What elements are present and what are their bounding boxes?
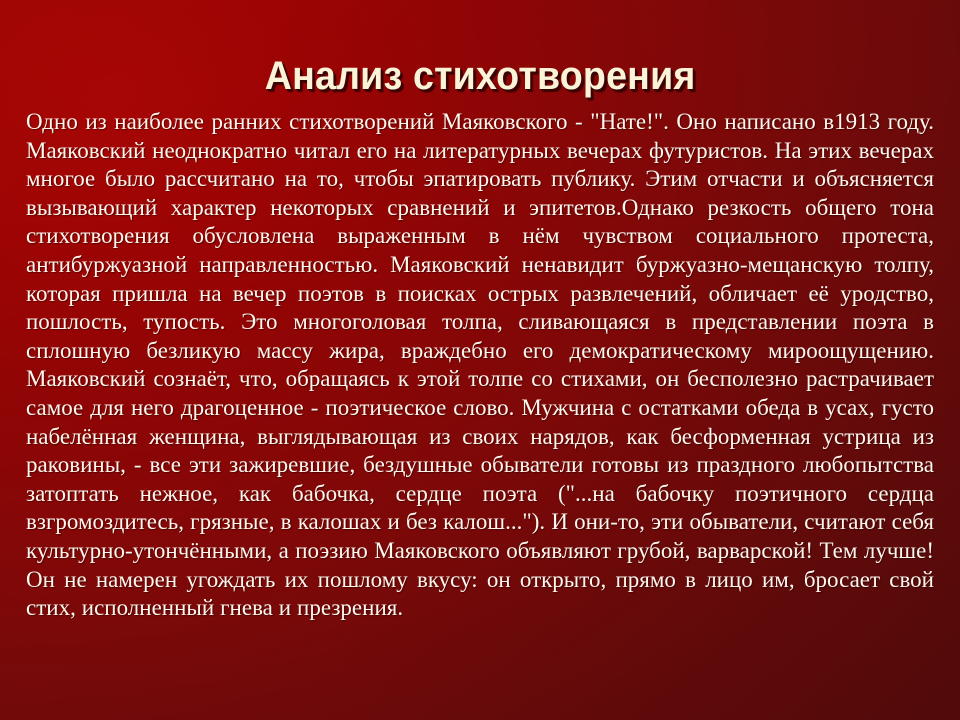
page-title: Анализ стихотворения bbox=[265, 53, 696, 99]
slide-body-container: Одно из наиболее ранних стихотворений Ма… bbox=[26, 108, 934, 623]
body-paragraph: Одно из наиболее ранних стихотворений Ма… bbox=[26, 108, 934, 623]
slide-content: Анализ стихотворения Одно из наиболее ра… bbox=[0, 0, 960, 720]
presentation-slide: Анализ стихотворения Одно из наиболее ра… bbox=[0, 0, 960, 720]
